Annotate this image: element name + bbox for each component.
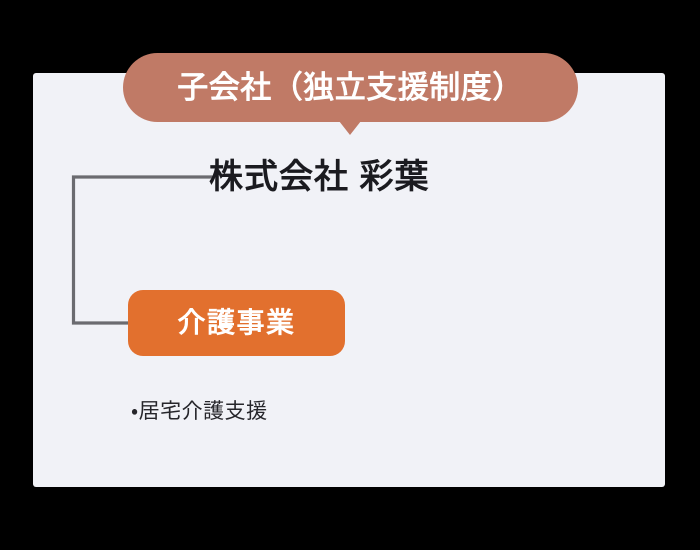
list-item: ・居宅介護支援: [131, 396, 268, 428]
company-name: 株式会社 彩葉: [209, 158, 429, 197]
badge-pointer-down-icon: [339, 121, 361, 135]
subsidiary-badge: 子会社（独立支援制度）: [123, 53, 578, 135]
subsidiary-badge-pill: 子会社（独立支援制度）: [123, 53, 578, 122]
content-card: [33, 73, 665, 487]
subsidiary-badge-label: 子会社（独立支援制度）: [177, 72, 524, 103]
division-button-care-business[interactable]: 介護事業: [128, 290, 345, 356]
service-list: ・居宅介護支援: [131, 396, 268, 428]
organization-chart-canvas: 子会社（独立支援制度） 株式会社 彩葉 介護事業 ・居宅介護支援: [0, 0, 700, 550]
division-button-label: 介護事業: [177, 309, 295, 337]
